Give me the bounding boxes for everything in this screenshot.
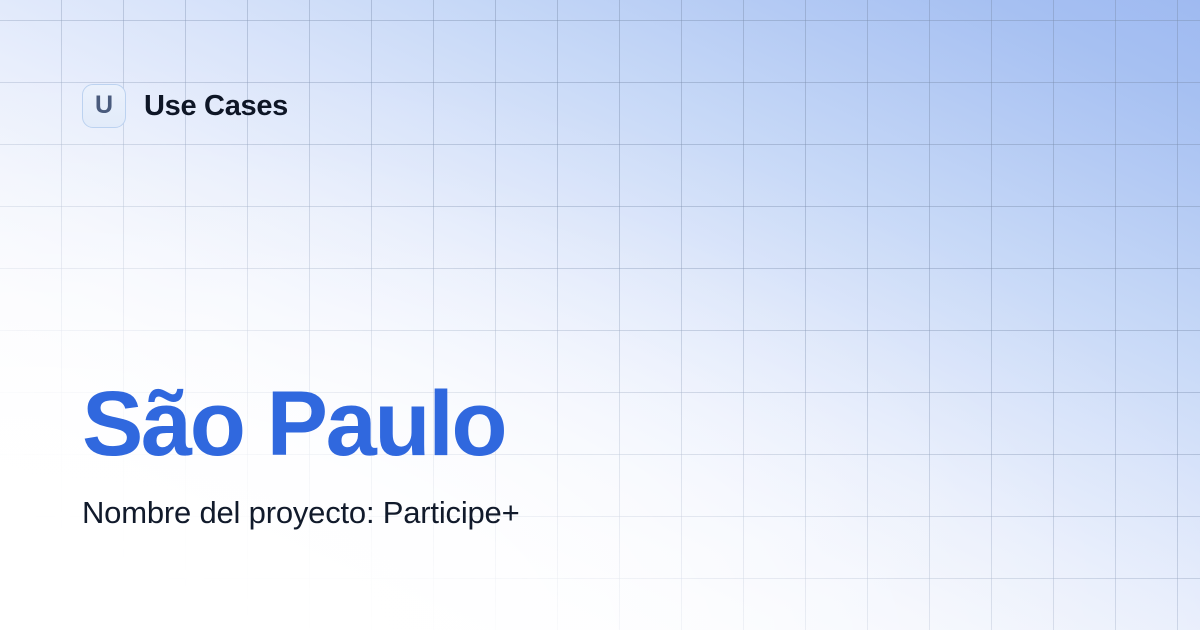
- brand-lockup: U Use Cases: [82, 84, 288, 128]
- use-case-hero-card: U Use Cases São Paulo Nombre del proyect…: [0, 0, 1200, 630]
- page-subtitle: Nombre del proyecto: Participe+: [82, 494, 520, 531]
- use-cases-logo-icon: U: [82, 84, 126, 128]
- brand-title: Use Cases: [144, 92, 288, 121]
- hero-text-block: São Paulo Nombre del proyecto: Participe…: [82, 378, 520, 531]
- page-title: São Paulo: [82, 378, 520, 470]
- logo-letter: U: [95, 93, 113, 118]
- hero-content: U Use Cases São Paulo Nombre del proyect…: [0, 0, 1200, 630]
